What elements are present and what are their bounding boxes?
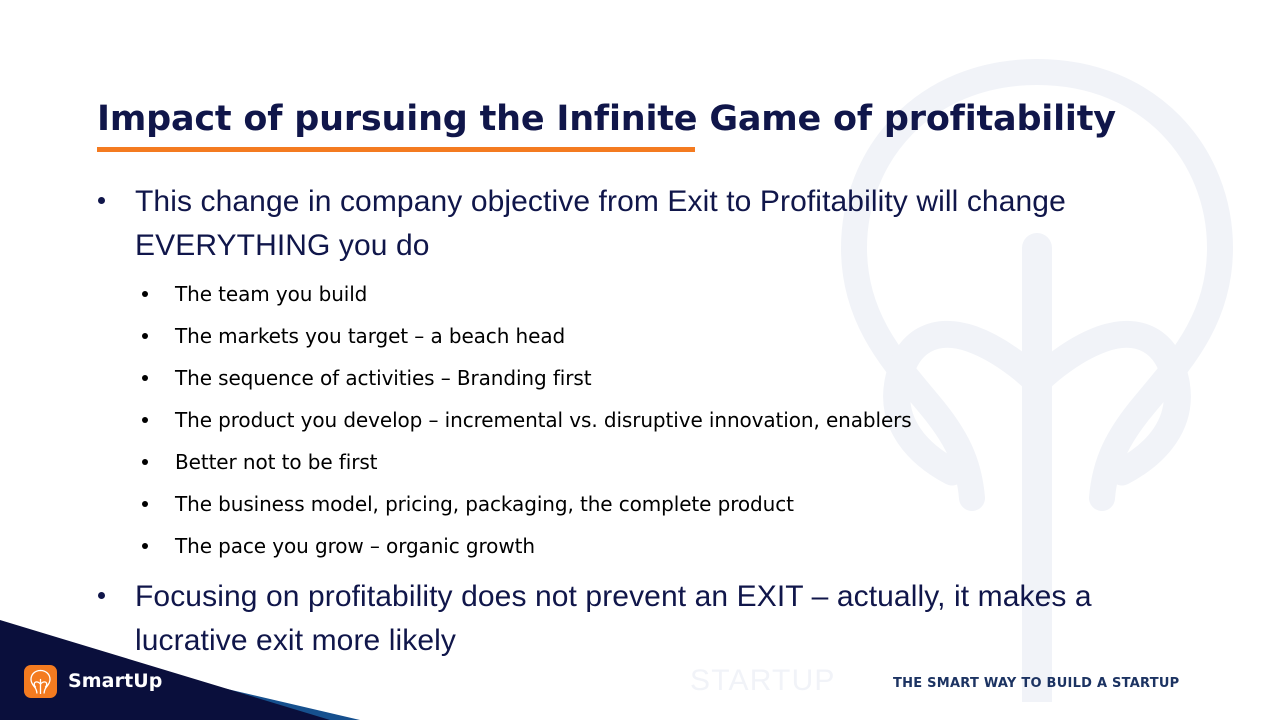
bullet-dot-icon (98, 592, 105, 599)
sub-bullet-item: Better not to be first (90, 441, 1210, 483)
sub-bullet-text: The sequence of activities – Branding fi… (175, 366, 591, 390)
sub-bullet-text: The team you build (175, 282, 367, 306)
sub-bullet-item: The sequence of activities – Branding fi… (90, 357, 1210, 399)
tree-bulb-icon (24, 665, 57, 698)
bullet-dot-icon (142, 501, 148, 507)
bullet-text: This change in company objective from Ex… (135, 185, 1066, 262)
footer-tagline: THE SMART WAY TO BUILD A STARTUP (893, 676, 1179, 691)
slide-title-text: Impact of pursuing the Infinite Game of … (97, 100, 1116, 139)
corner-accent-navy (0, 608, 330, 720)
title-underline-accent (97, 147, 695, 152)
sub-bullet-text: Better not to be first (175, 450, 377, 474)
sub-bullet-item: The product you develop – incremental vs… (90, 399, 1210, 441)
slide-canvas: STARTUP Impact of pursuing the Infinite … (0, 0, 1280, 720)
bullet-dot-icon (142, 417, 148, 423)
page-title: Impact of pursuing the Infinite Game of … (97, 100, 1116, 139)
bullet-list: This change in company objective from Ex… (90, 180, 1210, 664)
bullet-dot-icon (142, 333, 148, 339)
sub-bullet-text: The pace you grow – organic growth (175, 534, 535, 558)
slide-body: This change in company objective from Ex… (90, 180, 1210, 664)
sub-bullet-item: The markets you target – a beach head (90, 315, 1210, 357)
sub-bullet-item: The team you build (90, 273, 1210, 315)
smartup-logo: SmartUp (24, 665, 163, 698)
bullet-dot-icon (142, 291, 148, 297)
bullet-dot-icon (142, 375, 148, 381)
sub-bullet-text: The product you develop – incremental vs… (175, 408, 912, 432)
sub-bullet-item: The business model, pricing, packaging, … (90, 483, 1210, 525)
sub-bullet-group: The team you build The markets you targe… (90, 273, 1210, 567)
smartup-wordmark: SmartUp (68, 672, 163, 691)
bullet-dot-icon (98, 197, 105, 204)
sub-bullet-text: The business model, pricing, packaging, … (175, 492, 794, 516)
sub-bullet-item: The pace you grow – organic growth (90, 525, 1210, 567)
bullet-item-primary: This change in company objective from Ex… (90, 180, 1210, 269)
bullet-dot-icon (142, 543, 148, 549)
sub-bullet-text: The markets you target – a beach head (175, 324, 565, 348)
bullet-dot-icon (142, 459, 148, 465)
sub-bullet-list: The team you build The markets you targe… (90, 273, 1210, 567)
